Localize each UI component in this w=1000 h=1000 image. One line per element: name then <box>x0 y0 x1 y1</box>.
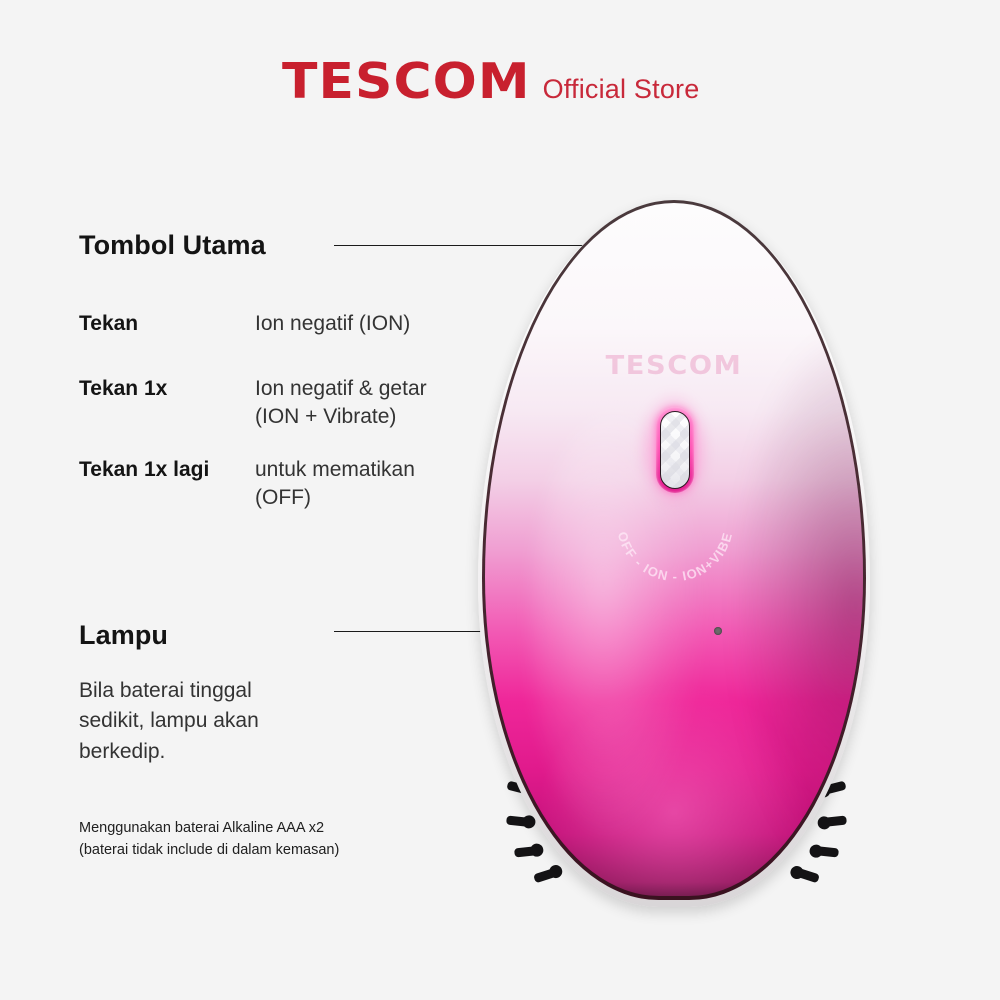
section-title-tombol-utama: Tombol Utama <box>79 230 266 261</box>
shell-wordmark: TESCOM <box>485 351 863 381</box>
spec-value: Ion negatif (ION) <box>255 310 410 338</box>
tescom-logo: TESCOM <box>282 57 531 106</box>
section-title-lampu: Lampu <box>79 620 168 651</box>
bristle <box>820 816 847 828</box>
lamp-description: Bila baterai tinggal sedikit, lampu akan… <box>79 676 339 767</box>
power-button[interactable] <box>656 407 694 493</box>
spec-row: Tekan 1x Ion negatif & getar (ION + Vibr… <box>79 375 469 432</box>
bristle <box>812 846 839 858</box>
infographic-canvas: TESCOM Official Store Tombol Utama Tekan… <box>0 0 1000 1000</box>
led-pinhole-icon <box>714 627 722 635</box>
power-button-face <box>660 411 690 489</box>
spec-key: Tekan 1x <box>79 375 255 402</box>
spec-row: Tekan Ion negatif (ION) <box>79 310 469 338</box>
brand-header: TESCOM Official Store <box>282 57 699 106</box>
bristle <box>514 846 541 858</box>
spec-key: Tekan <box>79 310 255 337</box>
bristle <box>533 867 561 884</box>
bristle <box>792 867 820 884</box>
battery-note: Menggunakan baterai Alkaline AAA x2 (bat… <box>79 818 479 862</box>
spec-key: Tekan 1x lagi <box>79 456 255 483</box>
bristle <box>506 816 533 828</box>
product-image-hair-brush: TESCOM OFF - ION - ION+VIBE <box>470 195 970 955</box>
spec-row: Tekan 1x lagi untuk mematikan (OFF) <box>79 456 469 513</box>
spec-value: untuk mematikan (OFF) <box>255 456 415 513</box>
spec-value: Ion negatif & getar (ION + Vibrate) <box>255 375 427 432</box>
official-store-label: Official Store <box>543 76 700 103</box>
